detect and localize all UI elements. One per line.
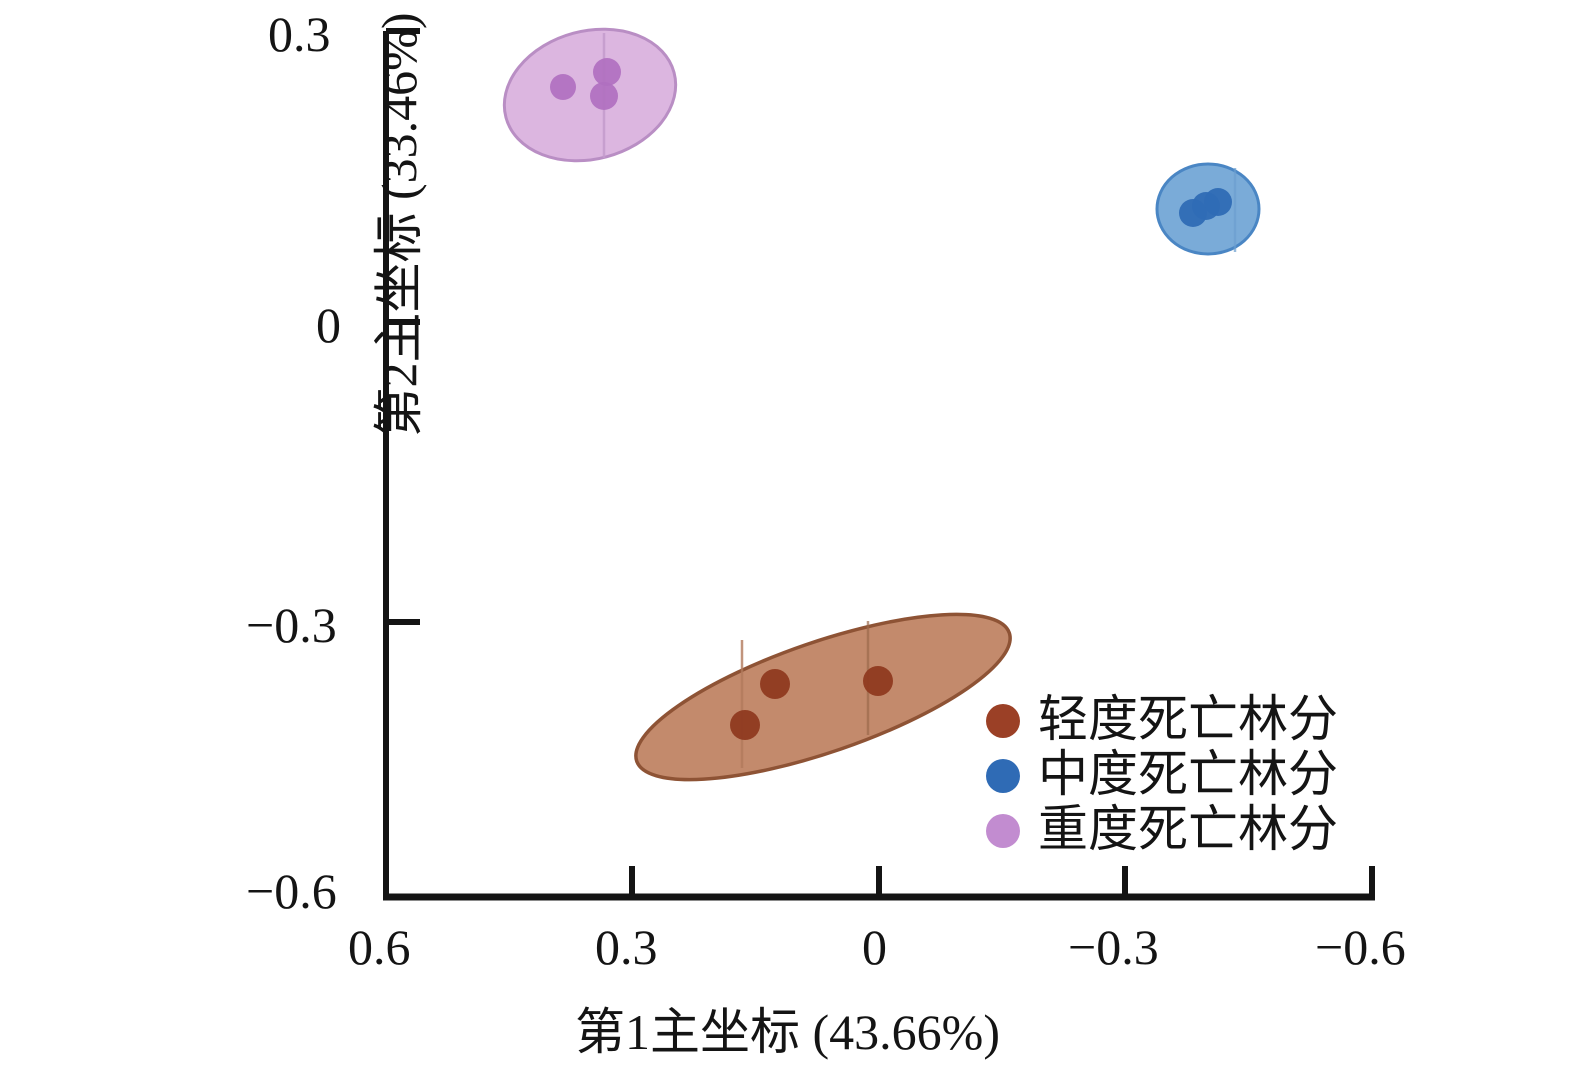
x-tick-label-0: 0.6 bbox=[348, 918, 411, 976]
legend-dot-severe bbox=[986, 814, 1020, 848]
pcoa-scatter-plot bbox=[0, 0, 1575, 1072]
legend-dot-light bbox=[986, 704, 1020, 738]
y-tick-label-0: 0.3 bbox=[268, 5, 331, 63]
x-axis-ticks bbox=[386, 866, 1372, 897]
x-tick-label-1: 0.3 bbox=[595, 918, 658, 976]
legend-label-light: 轻度死亡林分 bbox=[1038, 694, 1338, 744]
y-tick-label-2: −0.3 bbox=[246, 596, 337, 654]
ellipse-severe bbox=[489, 11, 690, 180]
y-tick-label-3: −0.6 bbox=[246, 862, 337, 920]
y-axis-title: 第2主坐标 (33.46%) bbox=[360, 0, 430, 525]
x-tick-label-3: −0.3 bbox=[1068, 918, 1159, 976]
x-tick-label-4: −0.6 bbox=[1315, 918, 1406, 976]
legend-label-severe: 重度死亡林分 bbox=[1038, 804, 1338, 854]
legend-label-moderate: 中度死亡林分 bbox=[1038, 749, 1338, 799]
chart-canvas: 0.3 0 −0.3 −0.6 0.6 0.3 0 −0.3 −0.6 第2主坐… bbox=[0, 0, 1575, 1072]
legend-dot-moderate bbox=[986, 759, 1020, 793]
y-tick-label-1: 0 bbox=[316, 296, 341, 354]
x-axis-title-text: 第1主坐标 (43.66%) bbox=[575, 1004, 1000, 1060]
y-axis-title-text: 第2主坐标 (33.46%) bbox=[359, 13, 431, 438]
x-axis-title: 第1主坐标 (43.66%) bbox=[0, 992, 1575, 1064]
ellipse-light bbox=[619, 581, 1027, 813]
x-tick-label-2: 0 bbox=[862, 918, 887, 976]
